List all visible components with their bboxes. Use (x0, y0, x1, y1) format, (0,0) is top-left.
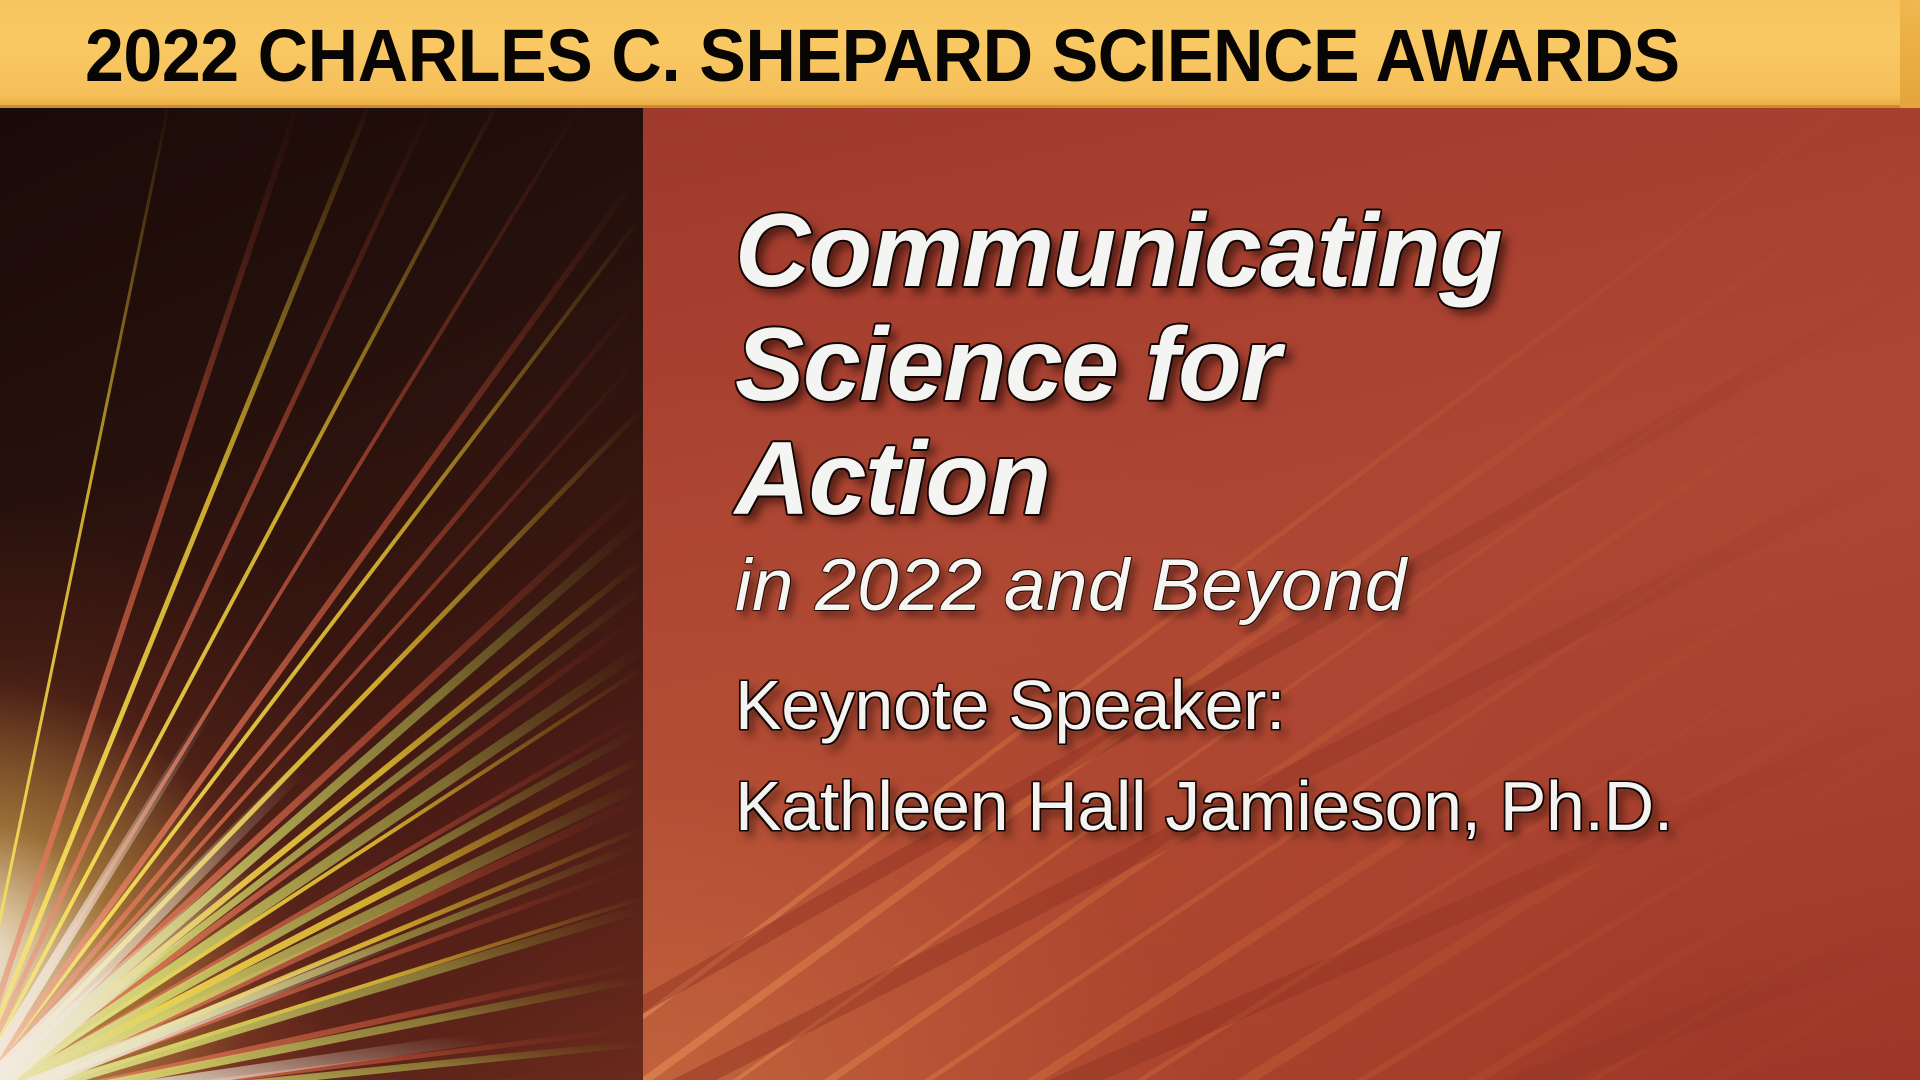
fireworks-streaks-vector (0, 108, 643, 1080)
subtitle: in 2022 and Beyond (735, 549, 1407, 622)
title-line-2: Science for (735, 313, 1279, 417)
keynote-speaker-label: Keynote Speaker: (735, 670, 1285, 740)
awards-banner-right-edge (1900, 0, 1920, 108)
slide-text-block: Communicating Science for Action in 2022… (735, 108, 1915, 1080)
title-line-1: Communicating (735, 199, 1501, 303)
awards-banner-title: 2022 CHARLES C. SHEPARD SCIENCE AWARDS (85, 11, 1680, 101)
title-slide: Communicating Science for Action in 2022… (0, 0, 1920, 1080)
keynote-speaker-name: Kathleen Hall Jamieson, Ph.D. (735, 771, 1673, 841)
awards-banner: 2022 CHARLES C. SHEPARD SCIENCE AWARDS (0, 0, 1900, 108)
title-line-3: Action (735, 427, 1050, 531)
fireworks-light-streaks-image (0, 108, 643, 1080)
